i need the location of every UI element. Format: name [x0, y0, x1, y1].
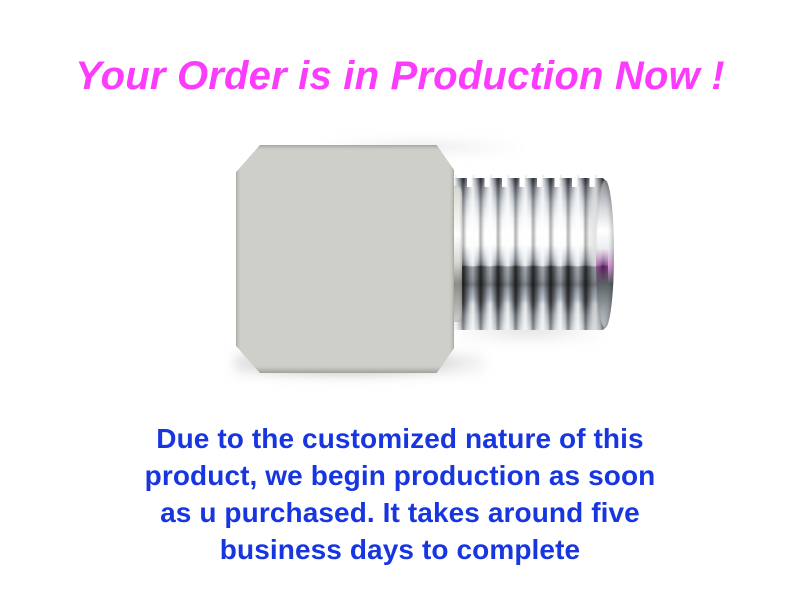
- thread-end-cap: [596, 180, 614, 328]
- notice-line: Due to the customized nature of this: [0, 420, 800, 457]
- notice-graphic: Your Order is in Production Now !: [0, 0, 800, 600]
- production-notice-text: Due to the customized nature of this pro…: [0, 420, 800, 568]
- notice-line: business days to complete: [0, 531, 800, 568]
- hex-contour: [236, 145, 454, 373]
- notice-line: product, we begin production as soon: [0, 457, 800, 494]
- page-title: Your Order is in Production Now !: [0, 50, 800, 102]
- product-photo: [200, 120, 640, 410]
- notice-line: as u purchased. It takes around five: [0, 494, 800, 531]
